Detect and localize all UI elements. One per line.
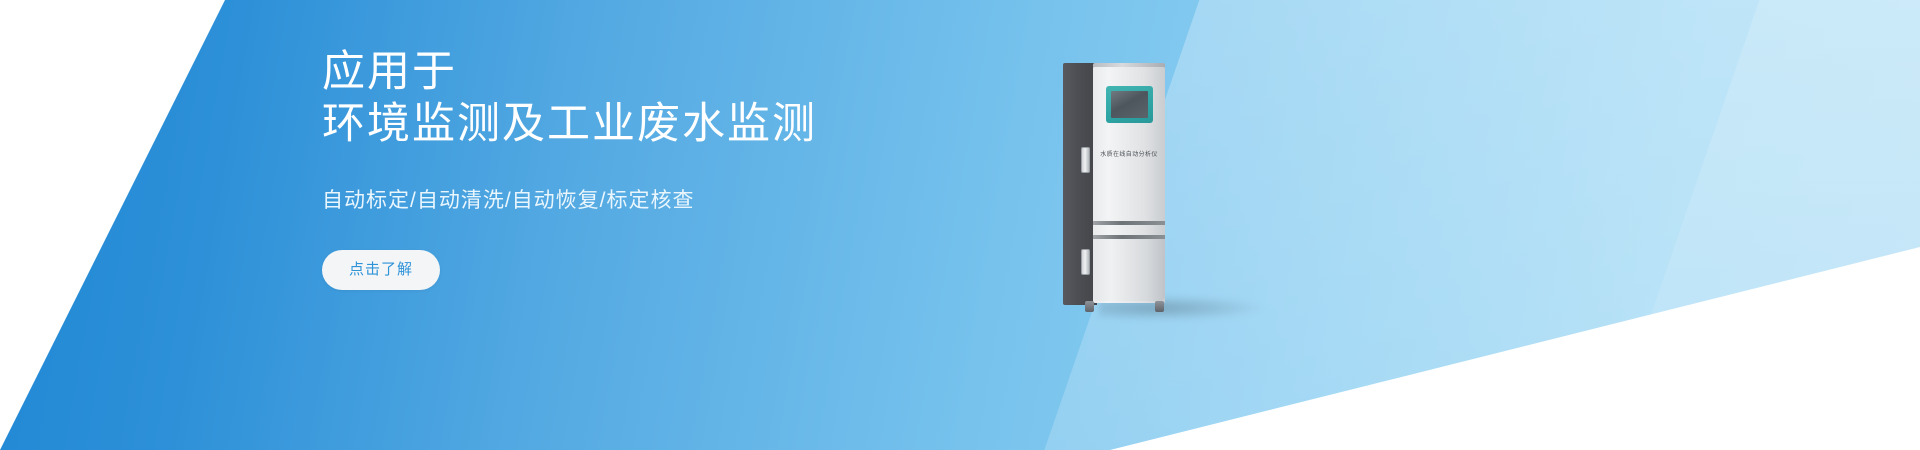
headline-line-1: 应用于 <box>322 46 1082 98</box>
device-seam-lower <box>1093 235 1165 239</box>
device-lower-compartment <box>1093 239 1165 301</box>
device-screen-bezel <box>1106 86 1153 123</box>
device-seam-upper <box>1093 221 1165 225</box>
background-diagonal-highlight-outer <box>1567 0 1920 450</box>
learn-more-button[interactable]: 点击了解 <box>322 250 440 290</box>
headline-line-2: 环境监测及工业废水监测 <box>322 98 1082 150</box>
device-lower-handle <box>1081 249 1090 275</box>
device-caster-left <box>1085 301 1094 312</box>
device-cabinet-side <box>1063 63 1097 305</box>
device-panel-label: 水质在线自动分析仪 <box>1093 149 1165 158</box>
device-display <box>1111 91 1148 118</box>
banner-copy: 应用于 环境监测及工业废水监测 自动标定/自动清洗/自动恢复/标定核查 点击了解 <box>322 46 1082 290</box>
page-title: 应用于 环境监测及工业废水监测 <box>322 46 1082 150</box>
device-caster-right <box>1155 301 1164 312</box>
water-quality-analyzer-image: 水质在线自动分析仪 <box>1063 63 1183 313</box>
device-upper-handle <box>1081 147 1090 173</box>
banner-subtitle: 自动标定/自动清洗/自动恢复/标定核查 <box>322 184 1082 214</box>
hero-banner: 应用于 环境监测及工业废水监测 自动标定/自动清洗/自动恢复/标定核查 点击了解… <box>0 0 1920 450</box>
